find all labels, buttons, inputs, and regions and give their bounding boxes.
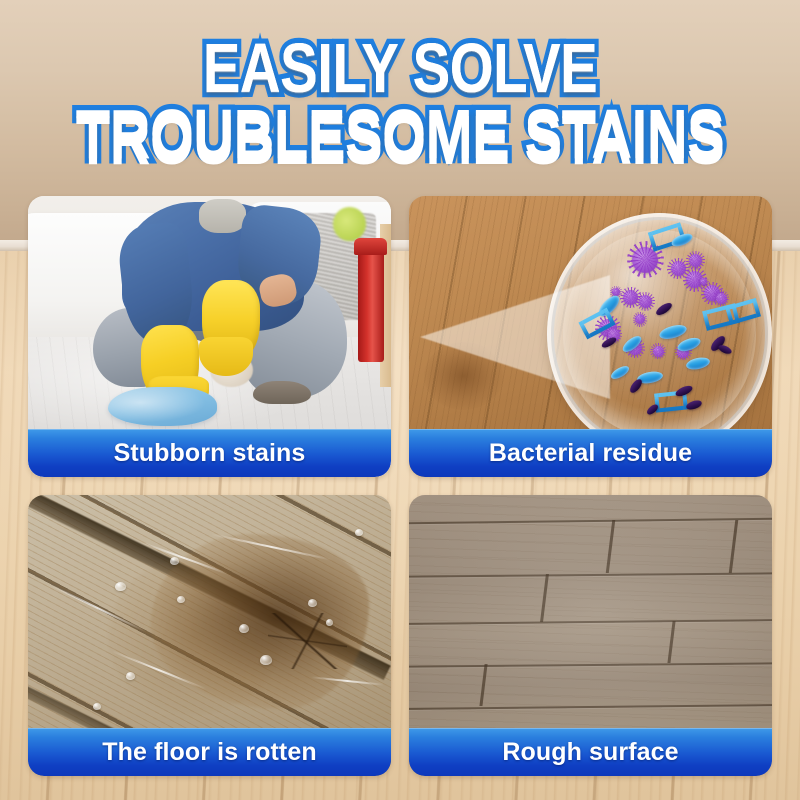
caption-label: Bacterial residue bbox=[489, 439, 692, 468]
caption-bar-stubborn-stains: Stubborn stains bbox=[28, 429, 391, 477]
blue-cleaning-cloth bbox=[108, 387, 217, 426]
poster-root: EASILY SOLVE EASILY SOLVE TROUBLESOME ST… bbox=[0, 0, 800, 800]
wood-crack bbox=[268, 613, 348, 669]
shoe bbox=[253, 381, 311, 403]
water-droplet bbox=[308, 599, 317, 607]
panel-rough-surface[interactable]: Rough surface bbox=[409, 495, 772, 776]
panel-floor-rotten[interactable]: The floor is rotten bbox=[28, 495, 391, 776]
title-line-2-wrap: TROUBLESOME STAINS TROUBLESOME STAINS bbox=[0, 100, 800, 160]
panel-bacterial-residue[interactable]: Bacterial residue bbox=[409, 196, 772, 477]
water-droplet bbox=[126, 672, 135, 680]
red-mop-handle bbox=[358, 244, 383, 362]
water-droplet bbox=[170, 557, 179, 565]
caption-bar-rough-surface: Rough surface bbox=[409, 728, 772, 776]
caption-bar-bacterial-residue: Bacterial residue bbox=[409, 429, 772, 477]
water-droplet bbox=[177, 596, 185, 603]
title-line-1-wrap: EASILY SOLVE EASILY SOLVE bbox=[0, 34, 800, 94]
water-droplet bbox=[355, 529, 363, 536]
caption-label: Stubborn stains bbox=[114, 439, 306, 468]
title-line-2: TROUBLESOME STAINS bbox=[24, 100, 776, 170]
water-droplet bbox=[239, 624, 249, 633]
title-line-1: EASILY SOLVE bbox=[24, 34, 776, 104]
water-droplet bbox=[326, 619, 333, 626]
glass-lens bbox=[547, 213, 772, 455]
green-plant-blur bbox=[333, 207, 366, 241]
caption-bar-floor-rotten: The floor is rotten bbox=[28, 728, 391, 776]
caption-label: The floor is rotten bbox=[102, 738, 316, 767]
lens-rim bbox=[547, 213, 772, 455]
feature-panel-grid: Stubborn stains bbox=[28, 196, 772, 774]
shirt-collar bbox=[199, 199, 246, 233]
poster-title: EASILY SOLVE EASILY SOLVE TROUBLESOME ST… bbox=[0, 34, 800, 160]
red-mop-head bbox=[354, 238, 387, 255]
caption-label: Rough surface bbox=[502, 738, 678, 767]
panel-stubborn-stains[interactable]: Stubborn stains bbox=[28, 196, 391, 477]
